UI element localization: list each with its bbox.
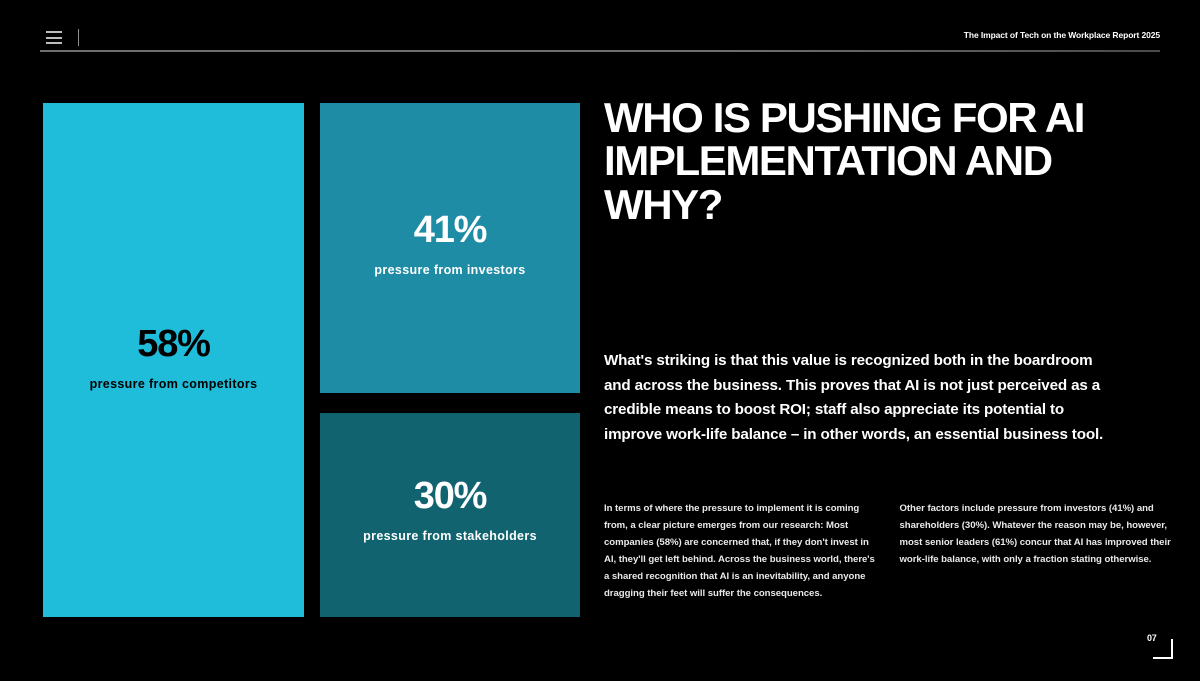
stat-caption: pressure from investors [374,263,525,277]
page-number-badge: 07 [1147,633,1173,659]
stat-card-competitors: 58% pressure from competitors [43,103,304,617]
hamburger-bar [46,31,62,33]
hamburger-bar [46,42,62,44]
stat-caption: pressure from stakeholders [363,529,537,543]
header-divider [78,29,79,46]
page-title: WHO IS PUSHING FOR AI IMPLEMENTATION AND… [604,96,1124,226]
stat-value: 58% [137,325,209,363]
stat-value: 30% [414,477,486,515]
body-columns: In terms of where the pressure to implem… [604,500,1174,602]
hamburger-bar [46,37,62,39]
stat-card-investors: 41% pressure from investors [320,103,580,393]
lead-paragraph: What's striking is that this value is re… [604,349,1104,448]
body-paragraph-right: Other factors include pressure from inve… [900,500,1175,602]
stat-value: 41% [414,211,486,249]
content-column: WHO IS PUSHING FOR AI IMPLEMENTATION AND… [604,96,1164,226]
hamburger-icon[interactable] [46,31,62,44]
slide: The Impact of Tech on the Workplace Repo… [0,0,1200,681]
header-rule [40,50,1160,52]
stat-card-stakeholders: 30% pressure from stakeholders [320,413,580,617]
body-paragraph-left: In terms of where the pressure to implem… [604,500,879,602]
corner-bracket-icon [1153,639,1173,659]
report-title: The Impact of Tech on the Workplace Repo… [964,30,1160,40]
stat-caption: pressure from competitors [90,377,258,391]
